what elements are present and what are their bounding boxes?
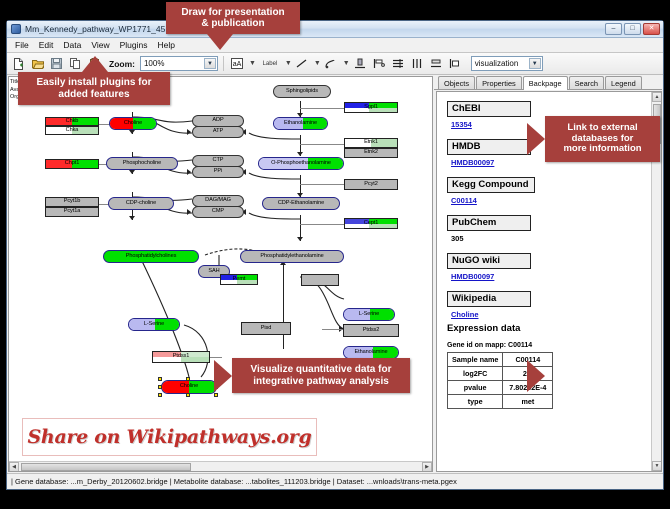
menu-bar: File Edit Data View Plugins Help: [7, 38, 663, 53]
section-heading-wikipedia: Wikipedia: [447, 291, 531, 308]
close-button[interactable]: ✕: [643, 23, 660, 35]
edge-ps-to-pe: [283, 265, 284, 349]
save-icon[interactable]: [48, 55, 65, 72]
text-label-icon[interactable]: aA: [229, 55, 246, 72]
node-gene-pcyt1a[interactable]: Pcyt1a: [45, 207, 99, 217]
zoom-combobox[interactable]: 100% ▼: [140, 56, 218, 71]
node-ethanolamine-top[interactable]: Ethanolamine: [273, 117, 328, 130]
node-ppi[interactable]: PPi: [192, 166, 244, 178]
selection-handle[interactable]: [158, 377, 162, 381]
arrow-icon: [129, 130, 135, 134]
node-phosphatidylethanolamine[interactable]: Phosphatidylethanolamine: [240, 250, 344, 263]
connector-cept1: [300, 224, 344, 225]
chevron-down-icon[interactable]: ▼: [204, 58, 216, 69]
cell-value: met: [503, 395, 553, 409]
tab-backpage[interactable]: Backpage: [523, 76, 568, 90]
line-icon[interactable]: [294, 55, 311, 72]
callout-share: Share on Wikipathways.org: [22, 418, 317, 456]
zoom-value: 100%: [144, 59, 164, 68]
callout-visualize: Visualize quantitative data for integrat…: [232, 358, 410, 393]
status-bar: | Gene database: ...m_Derby_20120602.bri…: [7, 473, 663, 489]
toolbar-separator: [223, 56, 224, 71]
node-gene-sgpl1[interactable]: Sgpl1: [344, 102, 398, 113]
menu-edit[interactable]: Edit: [34, 39, 59, 51]
selection-handle[interactable]: [186, 393, 190, 397]
node-cmp[interactable]: CMP: [192, 206, 244, 218]
expression-gene-id: Gene id on mapp: C00114: [447, 342, 661, 349]
node-atp[interactable]: ATP: [192, 126, 244, 138]
tab-objects[interactable]: Objects: [438, 76, 475, 89]
stack-icon[interactable]: [428, 55, 445, 72]
scroll-down-icon[interactable]: ▼: [652, 461, 662, 471]
menu-data[interactable]: Data: [58, 39, 86, 51]
scroll-up-icon[interactable]: ▲: [652, 92, 662, 102]
maximize-button[interactable]: □: [624, 23, 641, 35]
arrow-icon: [187, 169, 191, 175]
callout-pointer-right: [527, 360, 545, 392]
node-gene-ptdss2[interactable]: Ptdss2: [343, 324, 399, 337]
expression-data-title: Expression data: [447, 323, 661, 334]
arrow-icon: [129, 216, 135, 220]
chevron-down-icon[interactable]: ▼: [343, 60, 350, 67]
section-heading-hmdb: HMDB: [447, 139, 531, 156]
section-heading-chebi: ChEBI: [447, 101, 531, 118]
table-row: type met: [448, 395, 553, 409]
cell-key: log2FC: [448, 367, 503, 381]
selection-handle[interactable]: [214, 393, 218, 397]
callout-pointer-right: [214, 360, 232, 392]
title-bar: Mm_Kennedy_pathway_WP1771_45176.gpml – □…: [7, 21, 663, 38]
arrow-icon: [297, 237, 303, 241]
tab-legend[interactable]: Legend: [605, 76, 642, 89]
node-l-serine-right[interactable]: L-Serine: [343, 308, 395, 321]
node-gene-etnk2[interactable]: Etnk2: [344, 148, 398, 158]
chevron-down-icon[interactable]: ▼: [314, 60, 321, 67]
node-gene-pcyt1b[interactable]: Pcyt1b: [45, 197, 99, 207]
svg-text:aA: aA: [233, 61, 242, 68]
node-phosphocholine[interactable]: Phosphocholine: [106, 157, 178, 170]
value-pubchem: 305: [451, 234, 661, 243]
node-o-phosphoethanolamine[interactable]: O-Phosphoethanolamine: [258, 157, 344, 170]
label-dropdown[interactable]: Label: [258, 55, 282, 72]
callout-links: Link to external databases for more info…: [545, 116, 660, 162]
callout-plugins: Easily install plugins for added feature…: [18, 72, 170, 105]
node-phosphatidylcholines[interactable]: Phosphatidylcholines: [103, 250, 199, 263]
link-nugo[interactable]: HMDB00097: [451, 272, 661, 281]
connector-ptdss2: [322, 329, 344, 330]
node-gene-chka[interactable]: Chka: [45, 126, 99, 135]
node-gene-chpt1[interactable]: Chpt1: [45, 159, 99, 169]
menu-file[interactable]: File: [10, 39, 34, 51]
arrow-icon: [187, 129, 191, 135]
window-controls: – □ ✕: [605, 23, 660, 35]
arrow-icon: [129, 170, 135, 174]
node-gene-chkb[interactable]: Chkb: [45, 117, 99, 126]
chevron-down-icon[interactable]: ▼: [529, 58, 541, 69]
arrow-icon: [297, 152, 303, 156]
selection-handle[interactable]: [186, 377, 190, 381]
distribute-vertical-icon[interactable]: [390, 55, 407, 72]
callout-pointer-up: [82, 56, 108, 72]
distribute-horizontal-icon[interactable]: [409, 55, 426, 72]
menu-help[interactable]: Help: [153, 39, 180, 51]
node-cdp-choline[interactable]: CDP-choline: [108, 197, 174, 210]
section-heading-nugo: NuGO wiki: [447, 253, 531, 270]
node-l-serine-left[interactable]: L-Serine: [128, 318, 180, 331]
cell-key: type: [448, 395, 503, 409]
node-choline-top[interactable]: Choline: [109, 117, 157, 130]
arrow-icon: [187, 209, 191, 215]
connector-pcyt2: [300, 184, 344, 185]
side-panel-tabs: Objects Properties Backpage Search Legen…: [434, 76, 662, 90]
status-text: | Gene database: ...m_Derby_20120602.bri…: [11, 477, 457, 486]
cell-key: pvalue: [448, 381, 503, 395]
node-gene-extra[interactable]: [301, 274, 339, 286]
pathway-canvas-panel[interactable]: Title: Availa Organ: [8, 76, 433, 472]
node-cdp-ethanolamine[interactable]: CDP-Ethanolamine: [262, 197, 340, 210]
section-heading-pubchem: PubChem: [447, 215, 531, 232]
menu-view[interactable]: View: [86, 39, 114, 51]
canvas-hscrollbar[interactable]: ◀ ▶: [9, 461, 432, 471]
connector-etnk: [300, 144, 344, 145]
callout-pointer-down: [207, 34, 233, 50]
visualization-combobox[interactable]: visualization ▼: [471, 56, 543, 71]
scroll-right-icon[interactable]: ▶: [422, 462, 432, 472]
scroll-left-icon[interactable]: ◀: [9, 462, 19, 472]
new-file-icon[interactable]: [10, 55, 27, 72]
align-bottom-icon[interactable]: [352, 55, 369, 72]
screenshot-root: Mm_Kennedy_pathway_WP1771_45176.gpml – □…: [0, 0, 670, 509]
node-gene-ptdss1[interactable]: Ptdss1: [152, 351, 210, 363]
app-icon: [11, 24, 21, 34]
arc-icon[interactable]: [323, 55, 340, 72]
pathway-canvas[interactable]: Title: Availa Organ: [9, 77, 432, 471]
link-wikipedia[interactable]: Choline: [451, 310, 661, 319]
group-icon[interactable]: [447, 55, 464, 72]
selection-handle[interactable]: [158, 385, 162, 389]
menu-plugins[interactable]: Plugins: [115, 39, 153, 51]
open-folder-icon[interactable]: [29, 55, 46, 72]
node-gene-pisd[interactable]: Pisd: [241, 322, 291, 335]
node-gene-pcyt2[interactable]: Pcyt2: [344, 179, 398, 190]
link-kegg[interactable]: C00114: [451, 196, 661, 205]
node-gene-pemt[interactable]: Pemt: [220, 274, 258, 285]
chevron-down-icon[interactable]: ▼: [285, 60, 292, 67]
zoom-label: Zoom:: [109, 59, 135, 69]
node-choline-selected[interactable]: Choline: [161, 380, 217, 394]
section-heading-kegg: Kegg Compound: [447, 177, 535, 194]
selection-handle[interactable]: [158, 393, 162, 397]
visualization-value: visualization: [475, 59, 519, 68]
tab-search[interactable]: Search: [569, 76, 604, 89]
node-gene-etnk1[interactable]: Etnk1: [344, 138, 398, 148]
connector-sgpl1: [300, 108, 344, 109]
minimize-button[interactable]: –: [605, 23, 622, 35]
callout-draw: Draw for presentation & publication: [166, 2, 300, 34]
chevron-down-icon[interactable]: ▼: [249, 60, 256, 67]
share-text: Share on Wikipathways.org: [28, 426, 312, 448]
align-left-icon[interactable]: [371, 55, 388, 72]
callout-pointer-right: [527, 123, 545, 155]
cell-key: Sample name: [448, 353, 503, 367]
node-sphingolipids[interactable]: Sphingolipids: [273, 85, 331, 98]
hscroll-thumb[interactable]: [21, 463, 191, 471]
tab-properties[interactable]: Properties: [476, 76, 522, 89]
node-gene-cept1[interactable]: Cept1: [344, 218, 398, 229]
